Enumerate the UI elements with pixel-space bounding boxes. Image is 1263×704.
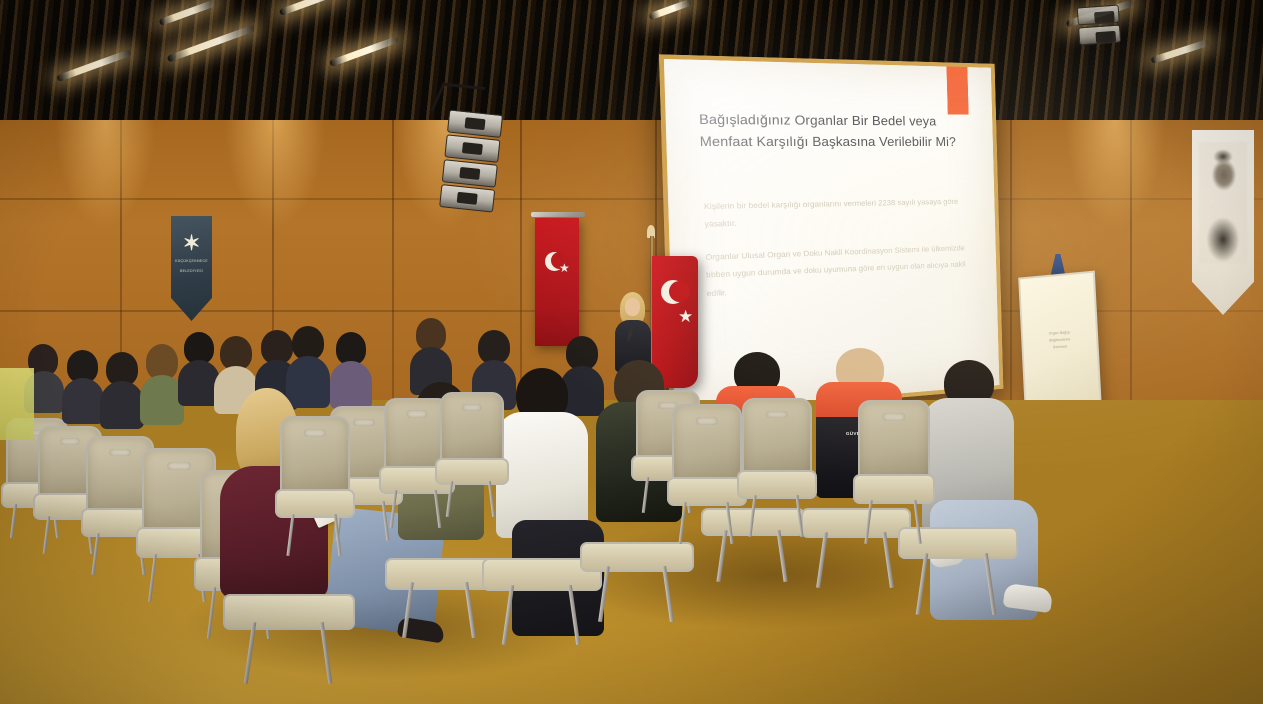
- flip-chart-paper: Organ Bağışı Bilgilendirme Semineri: [1018, 271, 1102, 409]
- chair-back: [280, 416, 350, 498]
- chair-empty[interactable]: [672, 404, 738, 530]
- presenter-face: [625, 298, 640, 316]
- audience-member: [100, 352, 144, 416]
- chair-seat: [898, 527, 1018, 559]
- conference-hall-scene: Bağışladığınız Organlar Bir Bedel veya M…: [0, 0, 1263, 704]
- slide-title: Bağışladığınız Organlar Bir Bedel veya M…: [699, 109, 970, 153]
- slide-paragraph-1: Kişilerin bir bedel karşılığı organların…: [704, 193, 972, 234]
- chair-back: [742, 398, 812, 479]
- head: [220, 336, 252, 370]
- star-icon: ★: [559, 262, 570, 274]
- torso: [62, 378, 104, 424]
- flag-rail: [531, 212, 585, 217]
- slide-accent-bar: [946, 67, 968, 115]
- speaker-module: [1078, 25, 1121, 46]
- chair-empty[interactable]: [280, 416, 346, 542]
- head: [566, 336, 598, 370]
- side-table: [0, 368, 34, 440]
- municipality-name-line-2: BELEDİYESİ: [171, 269, 212, 274]
- head: [292, 326, 324, 360]
- chair-seat: [580, 542, 693, 572]
- slide-paragraph-2: Organlar Ulusal Organ ve Doku Nakli Koor…: [705, 240, 973, 303]
- speaker-module: [444, 134, 500, 163]
- chair-back: [672, 404, 742, 486]
- slide-title-line-1: Bağışladığınız Organlar Bir Bedel veya: [699, 109, 969, 132]
- chair-back: [858, 400, 930, 483]
- chair-seat: [853, 474, 936, 504]
- flip-chart-note: Organ Bağışı Bilgilendirme Semineri: [1036, 328, 1085, 352]
- chair-seat: [385, 558, 496, 590]
- torso: [100, 381, 144, 429]
- chair-seat: [275, 489, 356, 518]
- chair-seat: [223, 594, 355, 630]
- audience-member: [330, 332, 372, 396]
- speaker-module: [1077, 5, 1120, 26]
- ataturk-banner: [1192, 130, 1254, 315]
- star-icon: ★: [678, 308, 693, 325]
- line-array-speaker: [439, 109, 503, 214]
- wall-seam: [0, 198, 1263, 200]
- audience-member: [62, 350, 104, 412]
- head: [478, 330, 510, 364]
- municipality-name-line-1: KÜÇÜKÇEKMECE: [171, 259, 212, 264]
- crescent-icon: [661, 280, 685, 304]
- chair-seat: [737, 470, 818, 499]
- torso: [330, 361, 372, 409]
- slide-title-line-2: Menfaat Karşılığı Başkasına Verilebilir …: [699, 131, 969, 153]
- slide-body: Kişilerin bir bedel karşılığı organların…: [704, 193, 974, 317]
- flip-chart-note-line-3: Semineri: [1036, 343, 1084, 353]
- speaker-module: [439, 184, 495, 213]
- chair-empty[interactable]: [858, 400, 926, 528]
- chair-empty[interactable]: [440, 392, 500, 506]
- audience-member: [286, 326, 330, 394]
- line-array-speaker-right: [1077, 5, 1122, 48]
- chair-back: [440, 392, 504, 467]
- audience-member: [410, 318, 452, 382]
- speaker-module: [447, 109, 503, 138]
- chair-empty[interactable]: [742, 398, 808, 522]
- chair-seat: [667, 477, 748, 506]
- chair-seat: [435, 458, 509, 485]
- turkish-flag-wall: ★: [535, 218, 579, 346]
- ataturk-portrait-image: [1199, 142, 1247, 264]
- chair-empty[interactable]: [384, 398, 446, 516]
- star-logo-icon: ✶: [171, 233, 212, 254]
- speaker-module: [442, 159, 498, 188]
